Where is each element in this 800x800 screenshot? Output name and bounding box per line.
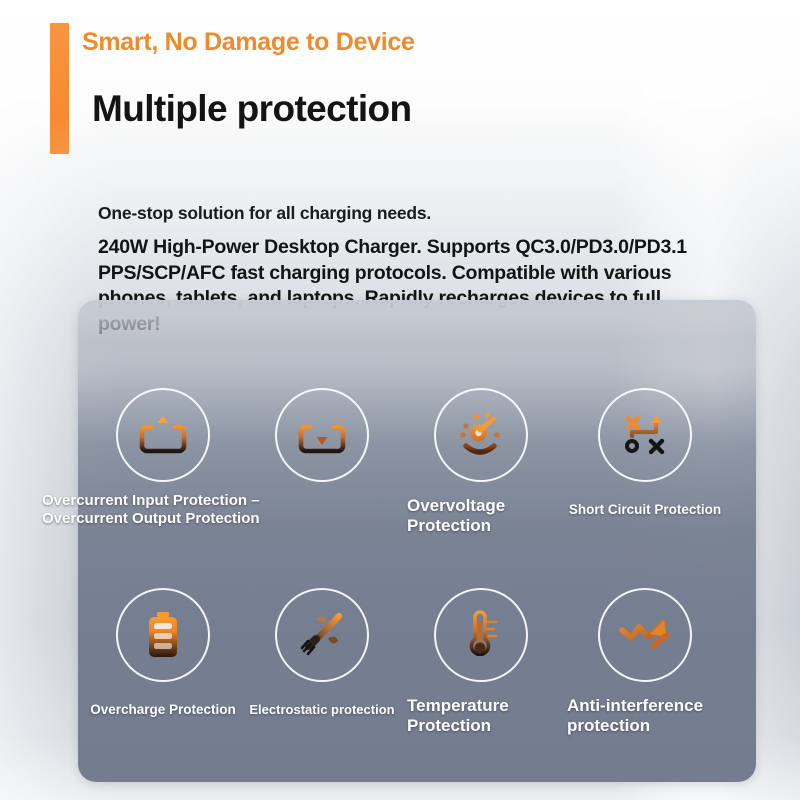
feature-overcurrent-output	[242, 388, 402, 492]
circuit-break-icon	[619, 409, 671, 461]
feature-anti-interference: Anti-interference protection	[565, 588, 725, 736]
feature-circle	[434, 388, 528, 482]
eyebrow-heading: Smart, No Damage to Device	[82, 28, 415, 57]
arrow-up-out-of-box-icon	[137, 409, 189, 461]
feature-circle	[434, 588, 528, 682]
feature-overcharge: Overcharge Protection	[83, 588, 243, 718]
thermometer-icon	[457, 607, 505, 663]
feature-temperature: Temperature Protection	[401, 588, 561, 736]
feature-label: Overcurrent Input Protection – Overcurre…	[42, 492, 302, 527]
feature-circle	[598, 588, 692, 682]
battery-icon	[140, 609, 186, 661]
feature-label: Temperature Protection	[407, 696, 577, 736]
feature-circle	[598, 388, 692, 482]
feature-circle	[116, 588, 210, 682]
promo-graphic: Smart, No Damage to Device Multiple prot…	[0, 0, 800, 800]
feature-label: Anti-interference protection	[567, 696, 747, 736]
feature-label: Electrostatic protection	[249, 702, 394, 717]
feature-label: Overvoltage Protection	[407, 496, 577, 536]
arrow-down-into-box-icon	[296, 409, 348, 461]
accent-bar	[50, 23, 69, 154]
feature-overcurrent-input: Overcurrent Input Protection – Overcurre…	[83, 388, 243, 527]
feature-label: Overcharge Protection	[90, 702, 236, 718]
page-title: Multiple protection	[92, 88, 412, 130]
lead-text: One-stop solution for all charging needs…	[98, 203, 431, 224]
feature-circle	[116, 388, 210, 482]
feature-label: Short Circuit Protection	[569, 502, 721, 518]
feature-electrostatic: Electrostatic protection	[242, 588, 402, 717]
feature-overvoltage: Overvoltage Protection	[401, 388, 561, 536]
brush-sweep-icon	[295, 608, 349, 662]
feature-circle	[275, 588, 369, 682]
gauge-icon	[454, 408, 508, 462]
feature-short-circuit: Short Circuit Protection	[565, 388, 725, 518]
feature-circle	[275, 388, 369, 482]
zigzag-arrow-icon	[617, 613, 673, 657]
